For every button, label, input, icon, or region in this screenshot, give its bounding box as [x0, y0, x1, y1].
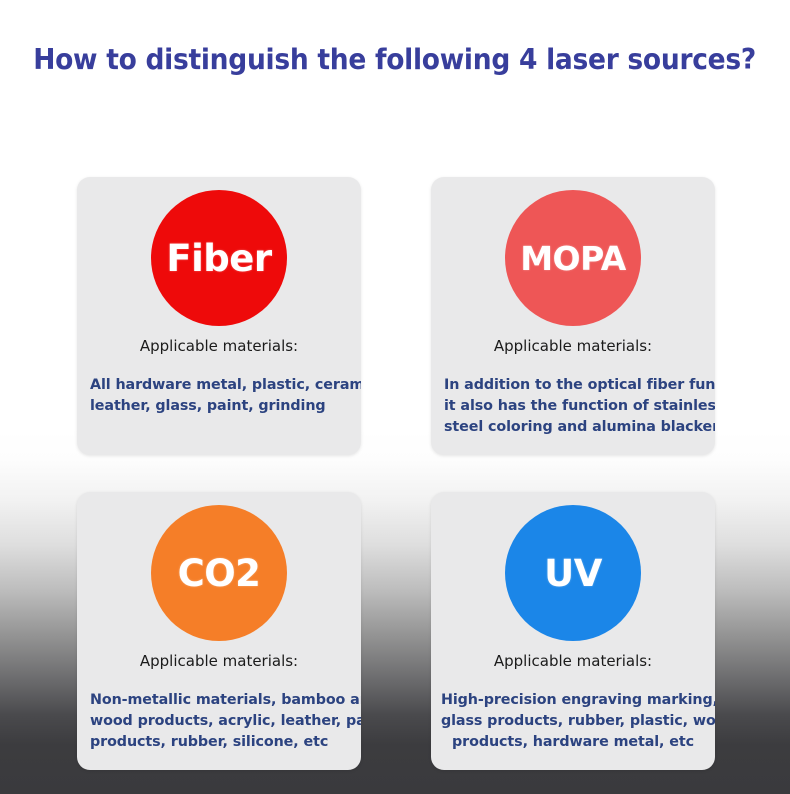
infographic-root: How to distinguish the following 4 laser…	[0, 0, 790, 794]
laser-source-card-fiber[interactable]: Fiber Applicable materials: All hardware…	[77, 177, 361, 455]
fiber-materials-line-2: leather, glass, paint, grinding	[90, 396, 355, 417]
uv-badge-label: UV	[544, 552, 602, 595]
badge-row: Fiber	[77, 177, 361, 335]
badge-row: CO2	[77, 492, 361, 650]
fiber-badge-label: Fiber	[166, 237, 271, 280]
badge-row: MOPA	[431, 177, 715, 335]
laser-source-card-uv[interactable]: UV Applicable materials: High-precision …	[431, 492, 715, 770]
co2-badge-circle: CO2	[151, 505, 287, 641]
applicable-materials-label-uv: Applicable materials:	[431, 652, 715, 670]
applicable-materials-label-mopa: Applicable materials:	[431, 337, 715, 355]
fiber-materials-text: All hardware metal, plastic, ceramic, le…	[77, 375, 361, 417]
co2-badge-label: CO2	[178, 552, 261, 595]
uv-materials-line-1: High-precision engraving marking,	[441, 690, 705, 711]
fiber-badge-circle: Fiber	[151, 190, 287, 326]
uv-materials-line-2: glass products, rubber, plastic, wood	[441, 711, 705, 732]
co2-materials-line-3: products, rubber, silicone, etc	[90, 732, 355, 753]
mopa-materials-text: In addition to the optical fiber functio…	[431, 375, 715, 438]
uv-badge-circle: UV	[505, 505, 641, 641]
uv-materials-text: High-precision engraving marking, glass …	[431, 690, 715, 753]
uv-materials-line-3: products, hardware metal, etc	[441, 732, 705, 753]
page-title: How to distinguish the following 4 laser…	[34, 44, 757, 75]
mopa-materials-line-1: In addition to the optical fiber functio…	[444, 375, 709, 396]
fiber-materials-line-1: All hardware metal, plastic, ceramic,	[90, 375, 355, 396]
page-title-container: How to distinguish the following 4 laser…	[0, 44, 790, 75]
mopa-materials-line-2: it also has the function of stainless	[444, 396, 709, 417]
co2-materials-line-1: Non-metallic materials, bamboo and	[90, 690, 355, 711]
mopa-badge-label: MOPA	[520, 239, 626, 278]
mopa-materials-line-3: steel coloring and alumina blackening	[444, 417, 709, 438]
applicable-materials-label-co2: Applicable materials:	[77, 652, 361, 670]
applicable-materials-label-fiber: Applicable materials:	[77, 337, 361, 355]
laser-source-card-co2[interactable]: CO2 Applicable materials: Non-metallic m…	[77, 492, 361, 770]
badge-row: UV	[431, 492, 715, 650]
laser-source-card-mopa[interactable]: MOPA Applicable materials: In addition t…	[431, 177, 715, 455]
co2-materials-text: Non-metallic materials, bamboo and wood …	[77, 690, 361, 753]
mopa-badge-circle: MOPA	[505, 190, 641, 326]
laser-source-card-grid: Fiber Applicable materials: All hardware…	[77, 177, 715, 770]
co2-materials-line-2: wood products, acrylic, leather, paper	[90, 711, 355, 732]
